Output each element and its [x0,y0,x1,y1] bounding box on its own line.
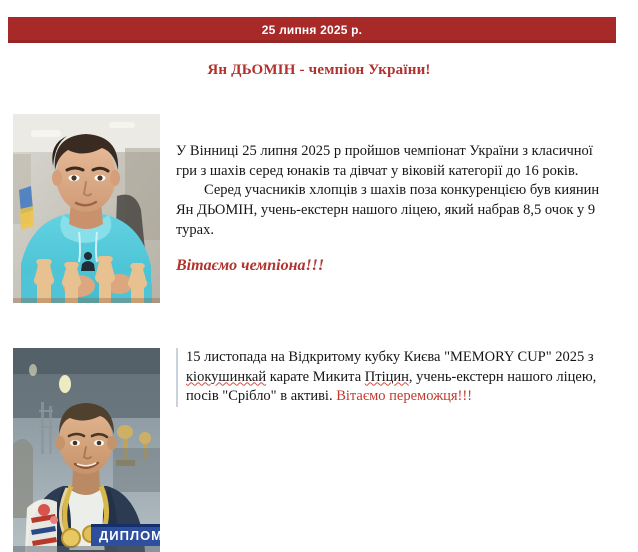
article-1-paragraph-2: Серед учасників хлопців з шахів поза кон… [176,182,599,237]
photo-mykyta-ptitsyn-image: ДИПЛОМ [13,348,160,552]
article-karate-silver-text: 15 листопада на Відкритому кубку Києва "… [176,348,614,407]
article-2-text-part-1: 15 листопада на Відкритому кубку Києва "… [186,349,594,365]
article-2-congratulation: Вітаємо переможця!!! [336,388,472,404]
photo-yan-domin [13,114,160,303]
date-banner: 25 липня 2025 р. [8,17,616,43]
article-2-misspelled-word-1: кіокушинкай [186,369,266,385]
article-1-congratulation: Вітаємо чемпіона!!! [176,255,610,277]
photo-yan-domin-image [13,114,160,303]
photo-mykyta-ptitsyn: ДИПЛОМ [13,348,160,552]
date-banner-text: 25 липня 2025 р. [262,24,362,36]
article-2-text-part-2: карате Микита [266,369,365,385]
article-2-misspelled-word-2: Птіцин [365,369,409,385]
page-title: Ян ДЬОМІН - чемпіон України! [0,62,638,79]
article-1-paragraph-1: У Вінниці 25 липня 2025 р пройшов чемпіо… [176,143,593,179]
svg-text:ДИПЛОМ: ДИПЛОМ [99,528,160,543]
article-chess-champion-text: У Вінниці 25 липня 2025 р пройшов чемпіо… [176,142,610,276]
